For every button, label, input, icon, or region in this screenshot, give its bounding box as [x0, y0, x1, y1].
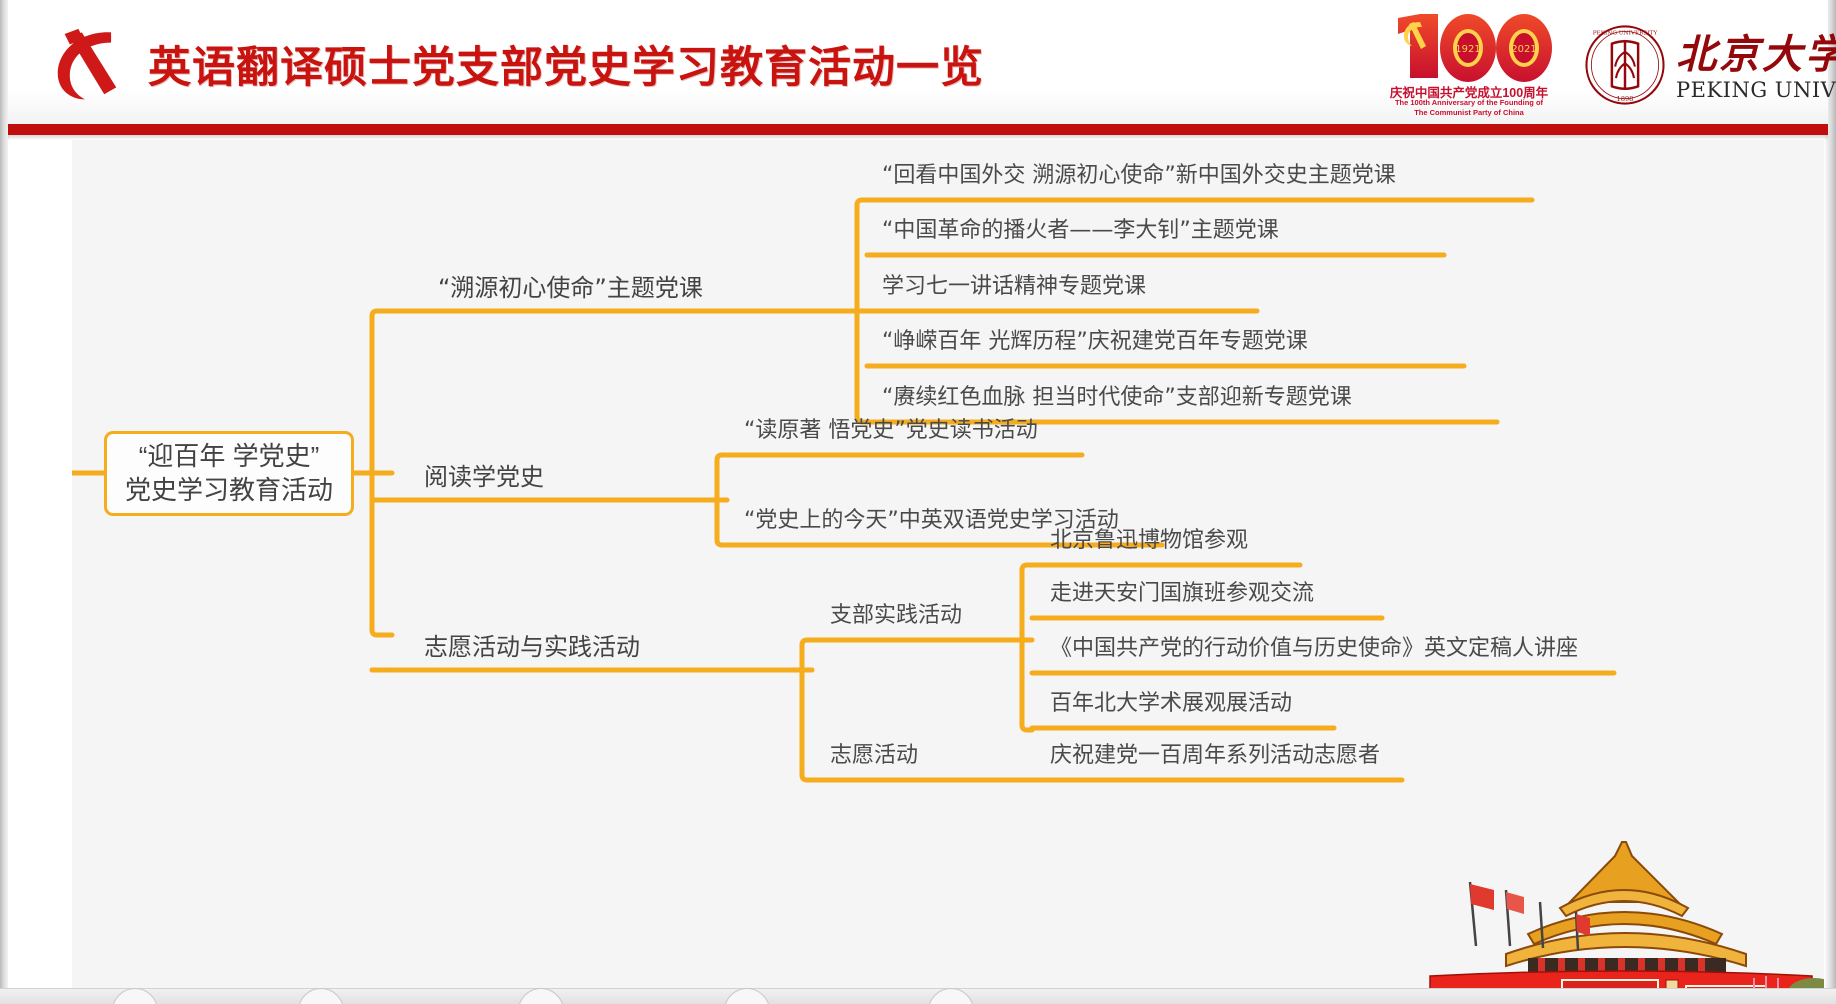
peking-university-logo: PEKING UNIVERSITY 1898 北京大学 PEKING UNIVE… [1584, 22, 1834, 114]
page-title: 英语翻译硕士党支部党史学习教育活动一览 [148, 33, 984, 95]
slide-viewer: 英语翻译硕士党支部党史学习教育活动一览 1921 [0, 0, 1836, 1004]
mindmap-subgroup-1-child-1[interactable]: 北京鲁迅博物馆参观 [1050, 527, 1248, 555]
mindmap-root-line1: “迎百年 学党史” [125, 440, 333, 474]
mindmap-branch-3-label[interactable]: 志愿活动与实践活动 [424, 632, 640, 662]
viewer-right-edge [1824, 0, 1836, 1004]
pku-seal-top-text: PEKING UNIVERSITY [1593, 31, 1658, 37]
grid-view-icon[interactable]: ▦ [518, 988, 564, 1004]
mindmap-branch-1-child-2[interactable]: “中国革命的播火者——李大钊”主题党课 [882, 217, 1279, 245]
header-divider-rule [8, 124, 1828, 135]
pku-seal-year: 1898 [1617, 95, 1634, 103]
cpc-100-numeral-icon: 1921 2021 [1376, 8, 1562, 86]
mindmap-root-text: “迎百年 学党史” 党史学习教育活动 [125, 440, 333, 508]
mindmap-branch-1-child-1[interactable]: “回看中国外交 溯源初心使命”新中国外交史主题党课 [882, 162, 1396, 190]
pen-icon[interactable]: ✎ [298, 988, 344, 1004]
mindmap-branch-1-label[interactable]: “溯源初心使命”主题党课 [438, 273, 703, 303]
mindmap-branch-1-child-4[interactable]: “峥嵘百年 光辉历程”庆祝建党百年专题党课 [882, 328, 1308, 356]
slide-left-margin [8, 140, 72, 988]
mindmap-root-node[interactable]: “迎百年 学党史” 党史学习教育活动 [104, 431, 354, 516]
mindmap-branch-1-child-3[interactable]: 学习七一讲话精神专题党课 [882, 273, 1146, 301]
slide-header: 英语翻译硕士党支部党史学习教育活动一览 1921 [8, 0, 1828, 124]
mindmap-subgroup-2-child-1[interactable]: 庆祝建党一百周年系列活动志愿者 [1050, 742, 1380, 770]
cpc-100-caption-en1: The 100th Anniversary of the Founding of [1376, 98, 1562, 107]
cpc-100-year-1921: 1921 [1455, 44, 1480, 55]
mindmap-root-line2: 党史学习教育活动 [125, 474, 333, 508]
cpc-100-year-2021: 2021 [1511, 44, 1536, 55]
previous-slide-icon[interactable]: ‹ [112, 988, 158, 1004]
cpc-100th-anniversary-logo: 1921 2021 庆祝中国共产党成立100周年 The 100th Anniv… [1376, 8, 1562, 120]
hammer-sickle-icon [44, 22, 130, 108]
mindmap-branch-2-child-1[interactable]: “读原著 悟党史”党史读书活动 [744, 417, 1038, 445]
pku-name-en: PEKING UNIVERSITY [1676, 78, 1836, 102]
mindmap-subgroup-1-label[interactable]: 支部实践活动 [830, 602, 962, 630]
mindmap-subgroup-1-child-4[interactable]: 百年北大学术展观展活动 [1050, 690, 1292, 718]
zoom-icon[interactable]: ◎ [724, 988, 770, 1004]
presentation-controls-bar: ‹ ✎ ▦ ◎ › [0, 988, 1836, 1004]
pku-seal-icon: PEKING UNIVERSITY 1898 [1584, 24, 1666, 106]
tiananmen-gate-illustration [1410, 816, 1824, 988]
slide-canvas: “迎百年 学党史” 党史学习教育活动 “溯源初心使命”主题党课 阅读学党史 志愿… [72, 140, 1824, 988]
cpc-100-caption-en2: The Communist Party of China [1376, 108, 1562, 117]
mindmap-branch-1-child-5[interactable]: “赓续红色血脉 担当时代使命”支部迎新专题党课 [882, 384, 1352, 412]
mindmap-branch-2-label[interactable]: 阅读学党史 [424, 462, 544, 492]
next-slide-icon[interactable]: › [928, 988, 974, 1004]
mindmap-subgroup-1-child-3[interactable]: 《中国共产党的行动价值与历史使命》英文定稿人讲座 [1050, 635, 1578, 663]
mindmap-subgroup-2-label[interactable]: 志愿活动 [830, 742, 918, 770]
mindmap-subgroup-1-child-2[interactable]: 走进天安门国旗班参观交流 [1050, 580, 1314, 608]
pku-name-cn: 北京大学 [1676, 22, 1836, 80]
